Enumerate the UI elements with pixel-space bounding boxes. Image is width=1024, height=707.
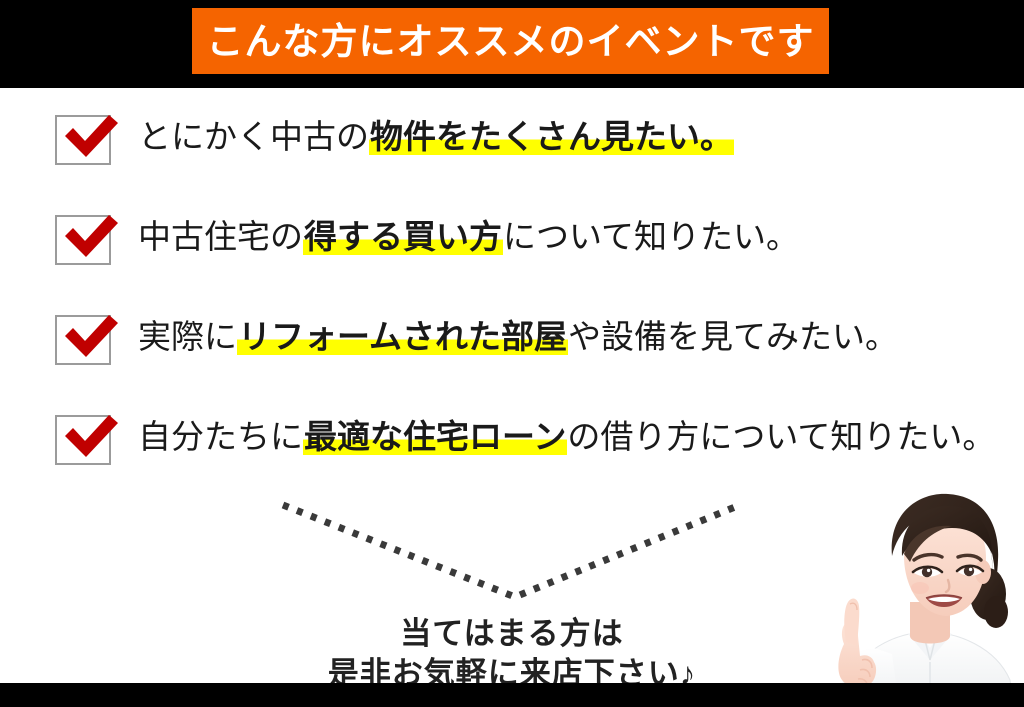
- red-check-mark-icon: [59, 409, 121, 467]
- text-highlight: 最適な住宅ローン: [303, 418, 567, 455]
- text-highlight: 得する買い方: [303, 218, 503, 255]
- checkbox[interactable]: [55, 415, 111, 465]
- checklist-item: 中古住宅の得する買い方について知りたい。: [0, 204, 1024, 304]
- header-banner: こんな方にオススメのイベントです: [192, 8, 829, 74]
- checklist-item: 実際にリフォームされた部屋や設備を見てみたい。: [0, 304, 1024, 404]
- text-plain-before: 自分たちに: [138, 418, 303, 455]
- woman-pointing-photo: [800, 484, 1024, 707]
- bottom-black-bar: [0, 683, 1024, 707]
- checklist-item-text: 中古住宅の得する買い方について知りたい。: [138, 208, 799, 266]
- text-plain-before: とにかく中古の: [138, 118, 369, 155]
- red-check-mark-icon: [59, 109, 121, 167]
- checklist-item-text: とにかく中古の物件をたくさん見たい。: [138, 108, 734, 166]
- dotted-chevron-down-icon: [260, 490, 760, 610]
- checkbox[interactable]: [55, 315, 111, 365]
- checklist-item-text: 実際にリフォームされた部屋や設備を見てみたい。: [138, 308, 898, 366]
- text-plain-before: 中古住宅の: [138, 218, 303, 255]
- advertisement-page: こんな方にオススメのイベントです とにかく中古の物件をたくさん見たい。 中古住宅…: [0, 0, 1024, 707]
- text-highlight: 物件をたくさん見たい。: [369, 118, 734, 155]
- checklist-item: とにかく中古の物件をたくさん見たい。: [0, 104, 1024, 204]
- red-check-mark-icon: [59, 309, 121, 367]
- text-plain-after: や設備を見てみたい。: [568, 318, 898, 355]
- red-check-mark-icon: [59, 209, 121, 267]
- checkbox[interactable]: [55, 115, 111, 165]
- text-plain-after: について知りたい。: [503, 218, 799, 255]
- text-highlight: リフォームされた部屋: [237, 318, 568, 355]
- checklist-item-text: 自分たちに最適な住宅ローンの借り方について知りたい。: [138, 408, 995, 466]
- woman-illustration: [800, 484, 1024, 707]
- checkbox[interactable]: [55, 215, 111, 265]
- text-plain-after: の借り方について知りたい。: [567, 418, 995, 455]
- banner-title: こんな方にオススメのイベントです: [207, 23, 815, 60]
- text-plain-before: 実際に: [138, 318, 237, 355]
- checklist: とにかく中古の物件をたくさん見たい。 中古住宅の得する買い方について知りたい。 …: [0, 104, 1024, 504]
